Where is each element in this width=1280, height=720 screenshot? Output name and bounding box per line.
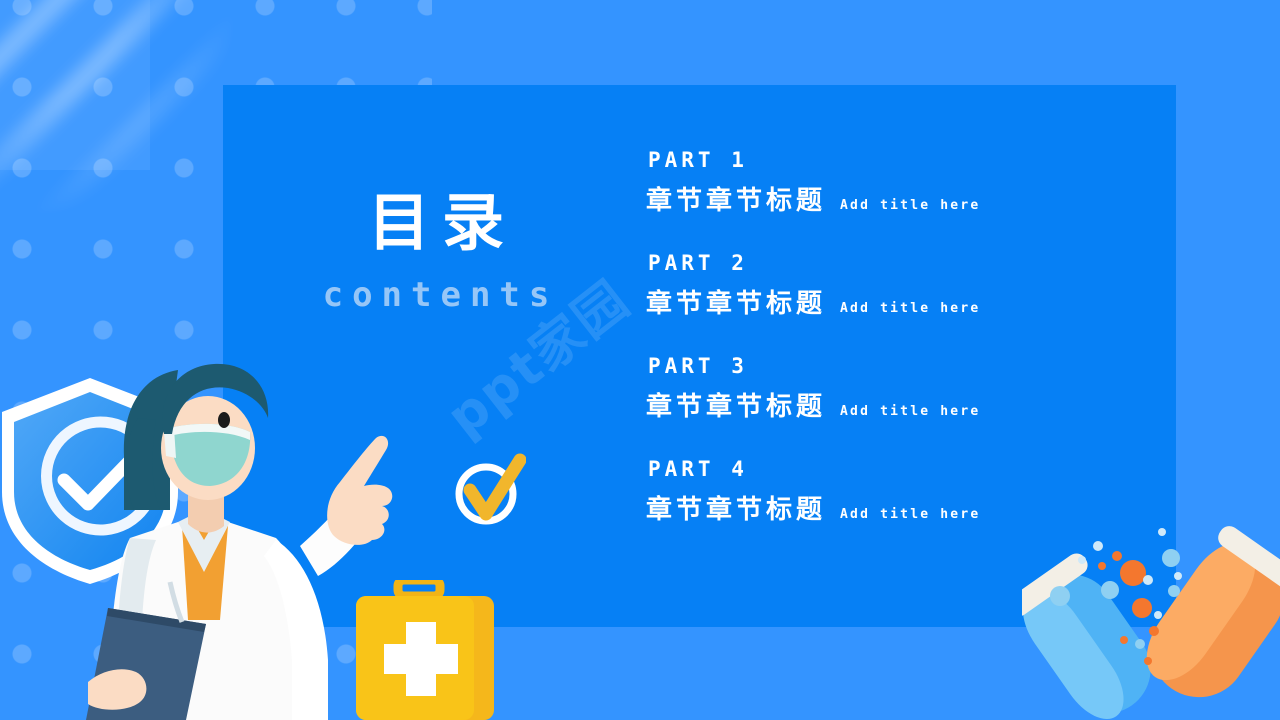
toc-item-2[interactable]: PART 2 章节章节标题 Add title here [646, 251, 1116, 320]
toc-list: PART 1 章节章节标题 Add title here PART 2 章节章节… [646, 148, 1116, 526]
toc-title-en: Add title here [840, 301, 980, 316]
toc-part-label: PART 2 [648, 251, 1116, 275]
toc-item-3[interactable]: PART 3 章节章节标题 Add title here [646, 354, 1116, 423]
toc-title-cn: 章节章节标题 [646, 489, 826, 526]
page-title-en: contents [246, 275, 626, 315]
toc-title-cn: 章节章节标题 [646, 386, 826, 423]
toc-title-cn: 章节章节标题 [646, 283, 826, 320]
slide-root: ppt家园 目录 contents PART 1 章节章节标题 Add titl… [0, 0, 1280, 720]
toc-title-en: Add title here [840, 198, 980, 213]
toc-item-1[interactable]: PART 1 章节章节标题 Add title here [646, 148, 1116, 217]
toc-part-label: PART 3 [648, 354, 1116, 378]
toc-part-label: PART 4 [648, 457, 1116, 481]
toc-row: 章节章节标题 Add title here [646, 489, 1116, 526]
toc-row: 章节章节标题 Add title here [646, 386, 1116, 423]
toc-item-4[interactable]: PART 4 章节章节标题 Add title here [646, 457, 1116, 526]
page-title: 目录 contents [246, 190, 626, 315]
toc-row: 章节章节标题 Add title here [646, 180, 1116, 217]
toc-part-label: PART 1 [648, 148, 1116, 172]
page-title-cn: 目录 [246, 190, 626, 255]
toc-title-cn: 章节章节标题 [646, 180, 826, 217]
toc-title-en: Add title here [840, 507, 980, 522]
toc-row: 章节章节标题 Add title here [646, 283, 1116, 320]
toc-title-en: Add title here [840, 404, 980, 419]
